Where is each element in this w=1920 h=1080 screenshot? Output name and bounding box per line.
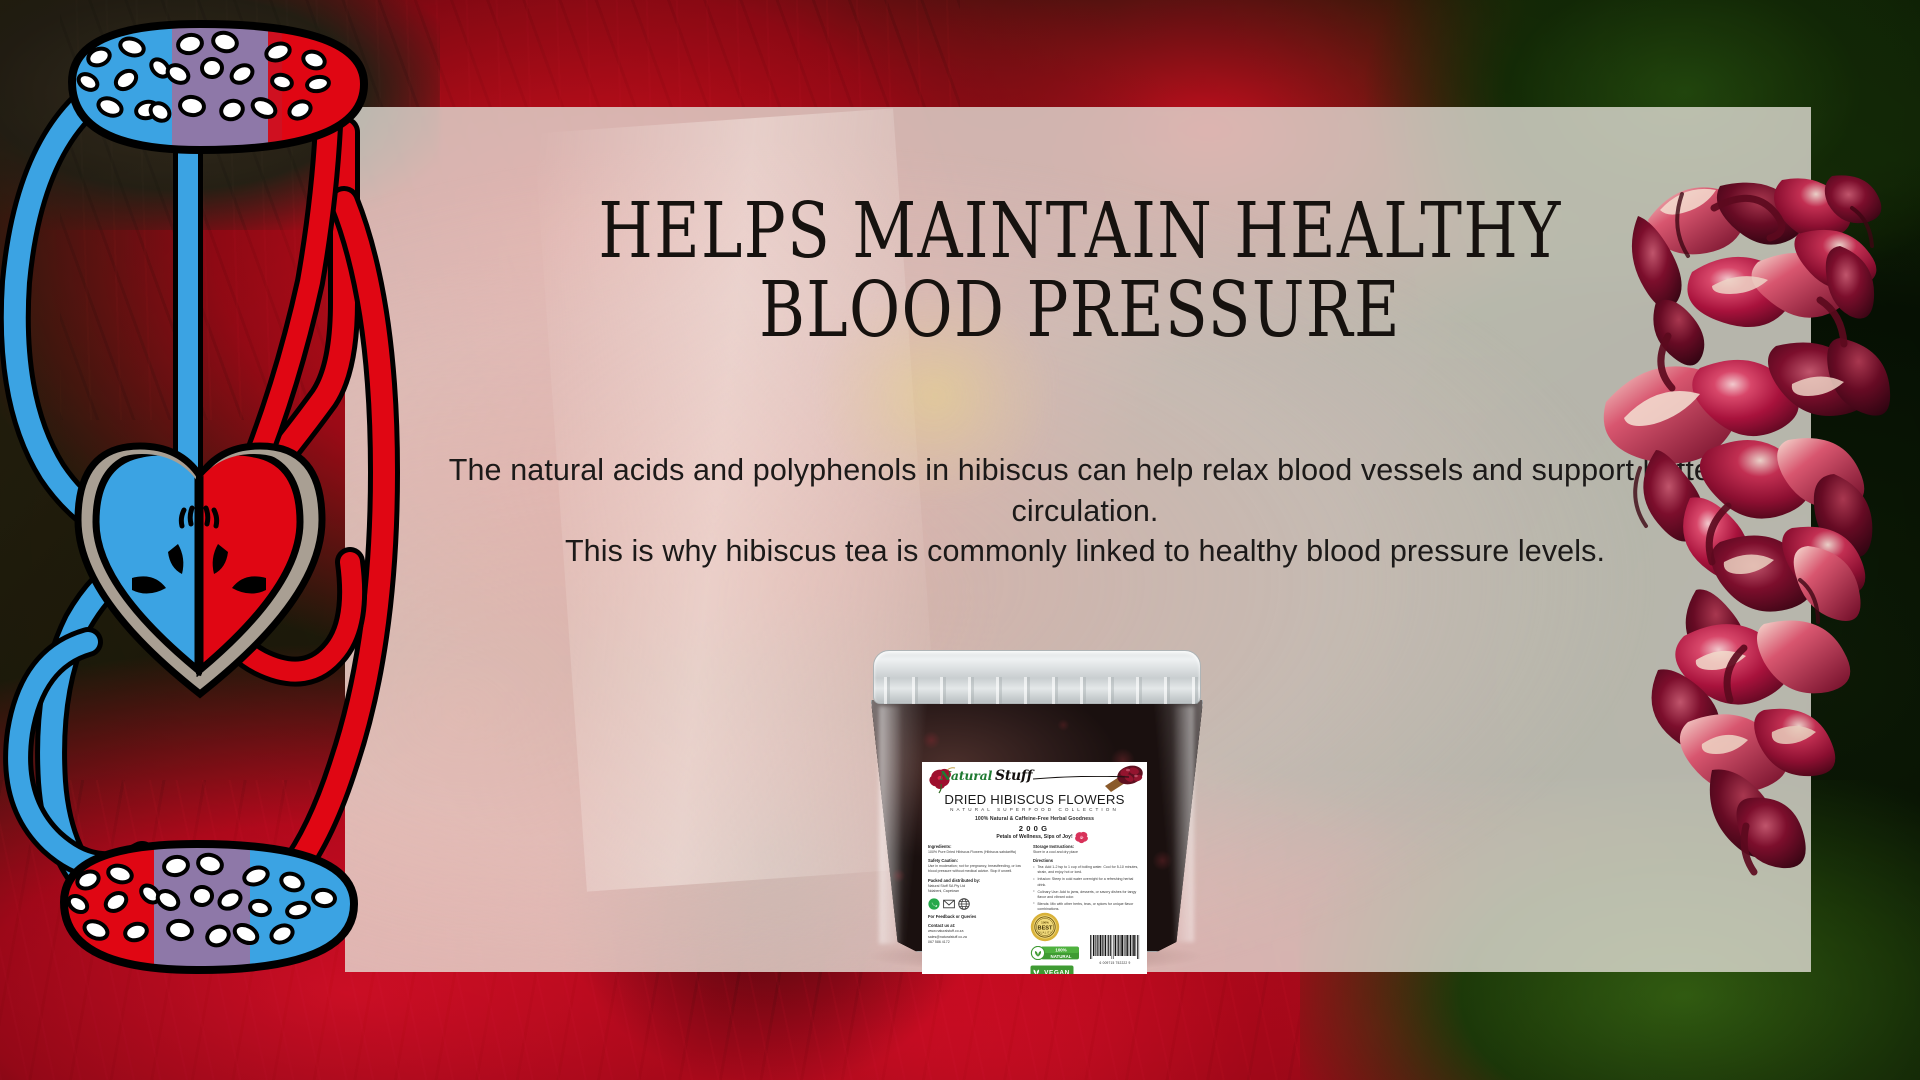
contact-phone: 067 586 4172 bbox=[928, 940, 1026, 945]
badge-natural-line-2: NATURAL bbox=[1051, 954, 1072, 959]
contact-heading-1: For Feedback or Queries bbox=[928, 914, 1026, 920]
contact-icon-row bbox=[928, 898, 1026, 910]
headline-line-1: Helps Maintain Healthy bbox=[468, 192, 1692, 271]
directions-heading: Directions bbox=[1033, 858, 1139, 864]
product-tub: Natural Stuff DRIED HIBISCUS FLOWERS NAT… bbox=[865, 650, 1210, 972]
direction-item: Tea: Add 1-2 tsp to 1 cup of boiling wat… bbox=[1033, 865, 1139, 876]
logo-swoosh-icon bbox=[1033, 776, 1129, 780]
label-left-column: Ingredients: 100% Pure Dried Hibiscus Fl… bbox=[928, 844, 1026, 945]
barcode-number: 6 009715 752222 9 bbox=[1089, 961, 1141, 966]
badge-best-line-1: 100% bbox=[1041, 921, 1049, 925]
pulmonary-and-systemic-circulation-diagram bbox=[0, 2, 432, 1022]
tub-lid bbox=[873, 650, 1201, 704]
label-badges: 100% BEST QUALITY 100% NATURAL VEGAN bbox=[1030, 912, 1088, 974]
direction-item: Infusion: Steep in cold water overnight … bbox=[1033, 877, 1139, 888]
barcode: 6 009715 752222 9 bbox=[1089, 935, 1141, 966]
label-header: Natural Stuff DRIED HIBISCUS FLOWERS NAT… bbox=[922, 762, 1147, 840]
whatsapp-icon bbox=[928, 898, 940, 910]
body-copy: The natural acids and polyphenols in hib… bbox=[430, 450, 1740, 572]
body-paragraph-1: The natural acids and polyphenols in hib… bbox=[430, 450, 1740, 531]
contact-block: For Feedback or Queries Contact us at: w… bbox=[928, 914, 1026, 945]
safety-body: Use in moderation; not for pregnancy, br… bbox=[928, 864, 1026, 875]
storage-body: Store in a cool and dry place bbox=[1033, 850, 1139, 855]
badge-best-line-3: QUALITY bbox=[1038, 931, 1052, 935]
barcode-bars bbox=[1089, 935, 1141, 959]
directions-list: Tea: Add 1-2 tsp to 1 cup of boiling wat… bbox=[1033, 865, 1139, 912]
headline-line-2: Blood Pressure bbox=[468, 271, 1692, 350]
tagline-flower-icon bbox=[1074, 830, 1089, 844]
dried-hibiscus-flowers-cluster bbox=[1596, 150, 1920, 880]
email-icon bbox=[943, 898, 955, 910]
tub-highlight-right bbox=[1174, 706, 1194, 942]
direction-item: Blends: Mix with other herbs, teas, or s… bbox=[1033, 902, 1139, 913]
product-collection: NATURAL SUPERFOOD COLLECTION bbox=[922, 807, 1147, 814]
tub-highlight-left bbox=[879, 706, 901, 944]
ingredients-body: 100% Pure Dried Hibiscus Flowers (Hibisc… bbox=[928, 850, 1026, 855]
brand-logo-primary: Natural bbox=[940, 768, 992, 783]
direction-item: Culinary Use: Add to jams, desserts, or … bbox=[1033, 890, 1139, 901]
body-paragraph-2: This is why hibiscus tea is commonly lin… bbox=[430, 531, 1740, 572]
vegan-badge: VEGAN bbox=[1030, 965, 1074, 974]
page-title: Helps Maintain Healthy Blood Pressure bbox=[468, 192, 1692, 351]
best-quality-seal-badge: 100% BEST QUALITY bbox=[1030, 912, 1060, 942]
product-tagline: Petals of Wellness, Sips of Joy! bbox=[922, 834, 1147, 841]
packed-body-2: Ndabeni, Capetown bbox=[928, 889, 1026, 894]
product-claim: 100% Natural & Caffeine-Free Herbal Good… bbox=[922, 816, 1147, 823]
badge-vegan-label: VEGAN bbox=[1044, 969, 1070, 974]
100-percent-natural-badge: 100% NATURAL bbox=[1030, 946, 1080, 960]
badge-natural-line-1: 100% bbox=[1055, 948, 1066, 953]
brand-logo-secondary: Stuff bbox=[995, 768, 1032, 784]
product-label: Natural Stuff DRIED HIBISCUS FLOWERS NAT… bbox=[922, 762, 1147, 974]
website-globe-icon bbox=[958, 898, 970, 910]
badge-best-line-2: BEST bbox=[1038, 925, 1054, 931]
brand-logo: Natural Stuff bbox=[922, 767, 1147, 787]
tub-lid-ribs bbox=[884, 677, 1208, 704]
hibiscus-petals bbox=[1604, 175, 1890, 872]
